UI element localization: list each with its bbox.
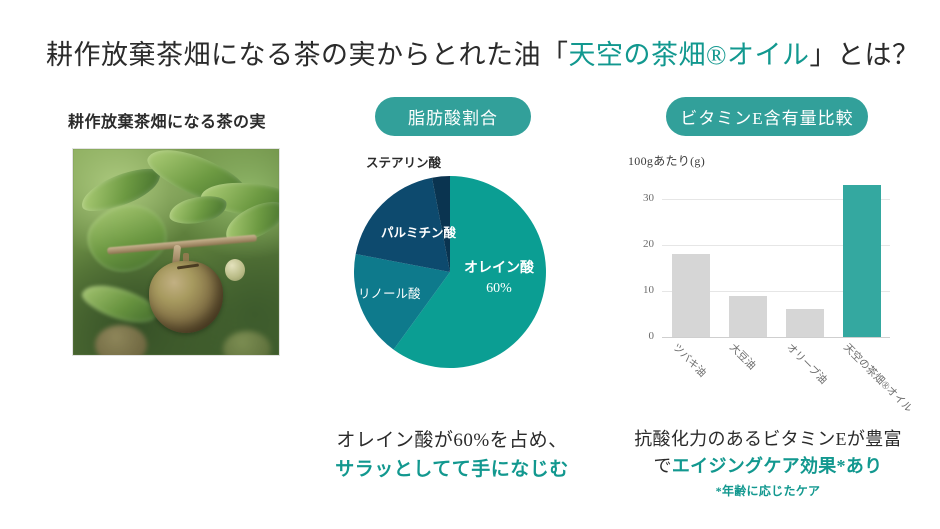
pie-label-palmitic: パルミチン酸 <box>381 222 456 241</box>
pie-label-oleic-name: オレイン酸 <box>464 261 534 276</box>
pie-label-oleic-value: 60% <box>486 281 512 296</box>
x-axis-tick: 天空の茶畑®オイル <box>840 340 916 416</box>
photo-caption: 耕作放棄茶畑になる茶の実 <box>68 108 266 132</box>
pie-label-oleic: オレイン酸 60% <box>464 259 534 298</box>
y-axis-tick: 10 <box>628 284 654 296</box>
badge-fatty-acid-ratio: 脂肪酸割合 <box>375 97 531 136</box>
slide-canvas: 耕作放棄茶畑になる茶の実からとれた油「天空の茶畑®オイル」とは？ 耕作放棄茶畑に… <box>0 0 940 529</box>
badge-vitamin-e-comparison: ビタミンE含有量比較 <box>666 97 868 136</box>
caption-vitamin-e-line1: 抗酸化力のあるビタミンEが豊富 <box>634 429 902 449</box>
tea-seed-small <box>225 259 245 281</box>
caption-fatty-acid: オレイン酸が60%を占め、 サラッとしてて手になじむ <box>307 426 597 485</box>
bar-axis-baseline <box>662 337 890 338</box>
tea-seed-photo <box>72 148 280 356</box>
x-axis-tick: ツバキ油 <box>669 340 709 380</box>
caption-vitamin-e-line2-accent: エイジングケア効果*あり <box>672 456 883 476</box>
vitamin-e-bar-chart: 0102030 <box>628 176 890 338</box>
page-title-part2: 」とは？ <box>810 40 920 70</box>
caption-fatty-acid-line2: サラッとしてて手になじむ <box>335 459 568 480</box>
page-title-accent: 天空の茶畑®オイル <box>569 40 810 70</box>
x-axis-tick: 大豆油 <box>726 340 759 373</box>
caption-vitamin-e-note: *年齢に応じたケア <box>608 482 928 500</box>
bar <box>672 254 710 337</box>
x-axis-tick: オリーブ油 <box>783 340 830 387</box>
bar <box>843 185 881 337</box>
y-axis-tick: 30 <box>628 192 654 204</box>
bar-chart-unit-label: 100gあたり(g) <box>628 152 705 169</box>
caption-fatty-acid-line1: オレイン酸が60%を占め、 <box>336 430 567 451</box>
pie-label-stearic: ステアリン酸 <box>366 152 441 171</box>
y-axis-tick: 0 <box>628 330 654 342</box>
pie-label-linoleic: リノール酸 <box>358 283 421 302</box>
page-title: 耕作放棄茶畑になる茶の実からとれた油「天空の茶畑®オイル」とは？ <box>46 33 920 72</box>
caption-vitamin-e-line2-prefix: で <box>654 456 672 476</box>
y-axis-tick: 20 <box>628 238 654 250</box>
caption-vitamin-e: 抗酸化力のあるビタミンEが豊富 でエイジングケア効果*あり *年齢に応じたケア <box>608 426 928 500</box>
tea-seed-main <box>149 261 223 333</box>
bar <box>786 309 824 337</box>
bar <box>729 296 767 337</box>
page-title-part1: 耕作放棄茶畑になる茶の実からとれた油「 <box>46 40 569 70</box>
